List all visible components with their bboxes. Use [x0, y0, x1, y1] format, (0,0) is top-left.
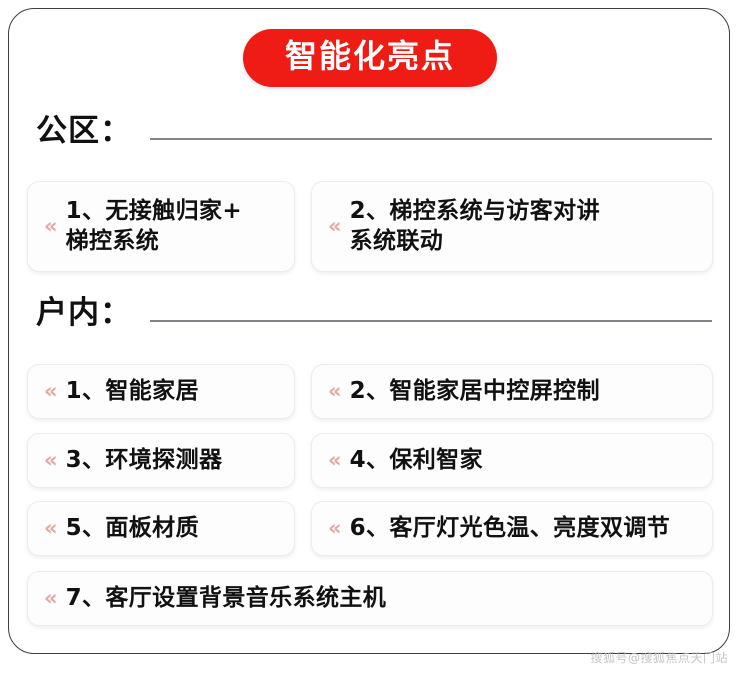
card-indoor-1-label: 1、智能家居	[66, 377, 282, 406]
card-indoor-3[interactable]: « 3、环境探测器	[27, 433, 295, 488]
card-indoor-6-label: 6、客厅灯光色温、亮度双调节	[350, 514, 700, 543]
double-chevron-left-icon: «	[328, 216, 341, 237]
double-chevron-left-icon: «	[44, 518, 57, 539]
card-public-1[interactable]: « 1、无接触归家+梯控系统	[27, 181, 295, 272]
section-divider-indoor	[150, 320, 712, 322]
card-indoor-4-label: 4、保利智家	[350, 446, 700, 475]
page-content: 智能化亮点 公区： « 1、无接触归家+梯控系统 « 2、梯控系统与访客对讲系统…	[0, 0, 740, 673]
card-public-2-label: 2、梯控系统与访客对讲系统联动	[350, 197, 700, 256]
card-indoor-1[interactable]: « 1、智能家居	[27, 364, 295, 419]
page-title-wrap: 智能化亮点	[0, 29, 740, 87]
card-indoor-3-label: 3、环境探测器	[66, 446, 282, 475]
card-indoor-5[interactable]: « 5、面板材质	[27, 501, 295, 556]
double-chevron-left-icon: «	[328, 518, 341, 539]
card-indoor-2-label: 2、智能家居中控屏控制	[350, 377, 700, 406]
card-indoor-2[interactable]: « 2、智能家居中控屏控制	[311, 364, 713, 419]
section-header-public-area: 公区：	[36, 116, 712, 149]
card-indoor-6[interactable]: « 6、客厅灯光色温、亮度双调节	[311, 501, 713, 556]
card-public-2[interactable]: « 2、梯控系统与访客对讲系统联动	[311, 181, 713, 272]
card-indoor-7[interactable]: « 7、客厅设置背景音乐系统主机	[27, 571, 713, 626]
double-chevron-left-icon: «	[328, 450, 341, 471]
card-indoor-4[interactable]: « 4、保利智家	[311, 433, 713, 488]
page-title: 智能化亮点	[243, 29, 497, 87]
section-header-indoor: 户内：	[36, 298, 712, 331]
card-indoor-7-label: 7、客厅设置背景音乐系统主机	[66, 584, 700, 613]
section-divider-public-area	[150, 138, 712, 140]
watermark: 搜狐号@搜狐焦点天门站	[590, 649, 728, 666]
card-public-1-label: 1、无接触归家+梯控系统	[66, 197, 282, 256]
section-label-public-area: 公区：	[36, 116, 132, 149]
section-label-indoor: 户内：	[36, 298, 132, 331]
double-chevron-left-icon: «	[44, 381, 57, 402]
card-indoor-5-label: 5、面板材质	[66, 514, 282, 543]
double-chevron-left-icon: «	[44, 450, 57, 471]
double-chevron-left-icon: «	[44, 216, 57, 237]
double-chevron-left-icon: «	[44, 588, 57, 609]
double-chevron-left-icon: «	[328, 381, 341, 402]
